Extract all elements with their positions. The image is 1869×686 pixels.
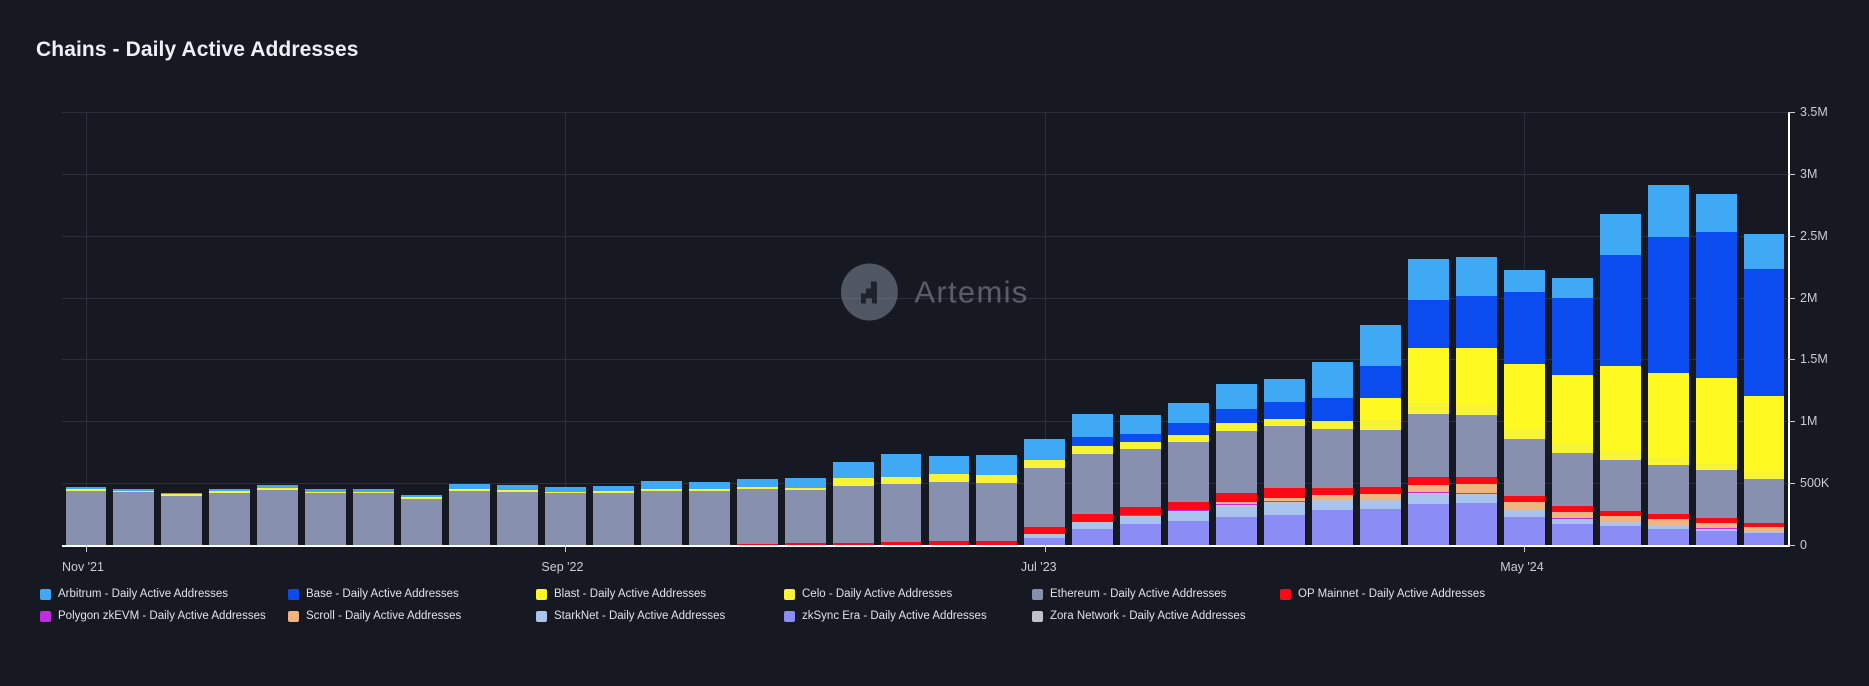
legend-item-starknet[interactable]: StarkNet - Daily Active Addresses	[536, 610, 784, 622]
y-axis-tick	[1788, 298, 1795, 299]
legend-item-label: Polygon zkEVM - Daily Active Addresses	[58, 610, 266, 622]
bar-segment-blast	[1744, 396, 1785, 473]
legend-swatch-icon	[784, 589, 795, 600]
bar-segment-ethereum	[1600, 460, 1641, 511]
bar-segment-celo	[929, 474, 970, 482]
bar-segment-base	[1552, 298, 1593, 375]
bar-segment-zksync_era	[1408, 504, 1449, 545]
bar-segment-zksync_era	[1360, 509, 1401, 545]
y-axis-tick	[1788, 174, 1795, 175]
y-axis-tick	[1788, 112, 1795, 113]
bar-column[interactable]	[1264, 378, 1305, 545]
y-axis-label: 3.5M	[1800, 105, 1828, 119]
bar-segment-op_mainnet	[1120, 507, 1161, 515]
bar-segment-blast	[1408, 348, 1449, 402]
y-axis-label: 500K	[1800, 476, 1829, 490]
bar-segment-scroll	[1408, 485, 1449, 492]
bar-segment-ethereum	[161, 496, 202, 545]
legend-swatch-icon	[784, 611, 795, 622]
bar-column[interactable]	[1216, 384, 1257, 545]
bar-segment-op_mainnet	[1216, 493, 1257, 502]
bar-segment-ethereum	[1168, 442, 1209, 501]
legend-item-base[interactable]: Base - Daily Active Addresses	[288, 588, 536, 600]
bar-segment-starknet	[1264, 504, 1305, 515]
bar-segment-arbitrum	[1024, 439, 1065, 460]
y-axis-label: 0	[1800, 538, 1807, 552]
bar-column[interactable]	[1072, 414, 1113, 545]
bar-segment-zksync_era	[1072, 529, 1113, 545]
bar-segment-celo	[1120, 442, 1161, 449]
legend-item-label: Base - Daily Active Addresses	[306, 588, 459, 600]
bar-segment-ethereum	[976, 483, 1017, 541]
bar-segment-ethereum	[1360, 430, 1401, 487]
bar-segment-ethereum	[785, 490, 826, 543]
bar-column[interactable]	[929, 456, 970, 545]
legend-item-arbitrum[interactable]: Arbitrum - Daily Active Addresses	[40, 588, 288, 600]
bar-segment-zksync_era	[1504, 517, 1545, 545]
bar-segment-scroll	[1552, 512, 1593, 519]
x-axis-line	[62, 545, 1788, 547]
bar-segment-base	[1264, 402, 1305, 419]
x-axis-label: Sep '22	[541, 560, 583, 574]
bar-segment-arbitrum	[881, 454, 922, 476]
bar-segment-ethereum	[1552, 453, 1593, 506]
bar-segment-base	[1744, 269, 1785, 395]
bar-segment-celo	[976, 475, 1017, 483]
bar-column[interactable]	[737, 479, 778, 545]
bar-column[interactable]	[1120, 415, 1161, 545]
chart-legend: Arbitrum - Daily Active AddressesBase - …	[40, 588, 1540, 622]
bar-segment-ethereum	[833, 486, 874, 543]
bar-segment-celo	[1600, 452, 1641, 460]
bar-segment-zksync_era	[1600, 526, 1641, 545]
bar-column[interactable]	[593, 486, 634, 545]
legend-item-label: OP Mainnet - Daily Active Addresses	[1298, 588, 1485, 600]
bar-segment-ethereum	[641, 491, 682, 545]
legend-item-label: zkSync Era - Daily Active Addresses	[802, 610, 987, 622]
bar-segment-arbitrum	[1408, 259, 1449, 300]
legend-swatch-icon	[1280, 589, 1291, 600]
legend-item-ethereum[interactable]: Ethereum - Daily Active Addresses	[1032, 588, 1280, 600]
bar-segment-celo	[1168, 435, 1209, 442]
legend-swatch-icon	[1032, 589, 1043, 600]
bar-segment-ethereum	[449, 491, 490, 545]
bar-column[interactable]	[785, 477, 826, 545]
bar-segment-arbitrum	[1648, 185, 1689, 237]
bar-segment-ethereum	[593, 493, 634, 545]
bar-segment-celo	[1216, 423, 1257, 431]
bar-column[interactable]	[1456, 257, 1497, 545]
bar-segment-op_mainnet	[1072, 514, 1113, 521]
bar-segment-starknet	[1168, 512, 1209, 521]
legend-item-label: Blast - Daily Active Addresses	[554, 588, 706, 600]
bar-segment-ethereum	[66, 491, 107, 545]
bar-segment-op_mainnet	[1456, 477, 1497, 484]
bar-segment-blast	[1600, 366, 1641, 451]
bar-segment-ethereum	[1504, 439, 1545, 496]
bar-segment-zksync_era	[1552, 524, 1593, 545]
bar-segment-base	[1600, 255, 1641, 366]
y-axis-label: 3M	[1800, 167, 1817, 181]
bar-column[interactable]	[401, 495, 442, 545]
bar-column[interactable]	[1648, 185, 1689, 545]
legend-swatch-icon	[40, 589, 51, 600]
bar-segment-ethereum	[881, 484, 922, 542]
bar-column[interactable]	[209, 489, 250, 545]
bar-segment-blast	[1456, 348, 1497, 405]
bar-segment-scroll	[1456, 484, 1497, 493]
bar-segment-zksync_era	[1264, 515, 1305, 545]
bar-segment-base	[1648, 237, 1689, 373]
bar-segment-op_mainnet	[1168, 502, 1209, 510]
bar-segment-blast	[1360, 398, 1401, 420]
bar-segment-celo	[1648, 457, 1689, 465]
bar-segment-ethereum	[1744, 479, 1785, 524]
bar-segment-base	[1408, 300, 1449, 348]
bar-segment-ethereum	[1696, 470, 1737, 518]
bar-segment-arbitrum	[1600, 214, 1641, 255]
bar-segment-arbitrum	[1312, 362, 1353, 399]
legend-swatch-icon	[288, 611, 299, 622]
bar-segment-ethereum	[497, 492, 538, 545]
bar-segment-ethereum	[401, 499, 442, 545]
bar-segment-celo	[1072, 446, 1113, 453]
bar-segment-starknet	[1120, 517, 1161, 524]
bar-segment-zksync_era	[1168, 521, 1209, 545]
y-axis-tick	[1788, 483, 1795, 484]
bar-column[interactable]	[497, 485, 538, 545]
bar-segment-base	[1360, 366, 1401, 398]
bar-segment-celo	[1504, 429, 1545, 439]
bar-segment-base	[1216, 409, 1257, 424]
bar-segment-arbitrum	[1696, 194, 1737, 231]
bar-segment-ethereum	[1072, 454, 1113, 515]
bar-segment-arbitrum	[1120, 415, 1161, 433]
legend-swatch-icon	[1032, 611, 1043, 622]
legend-item-label: Ethereum - Daily Active Addresses	[1050, 588, 1226, 600]
legend-swatch-icon	[288, 589, 299, 600]
bar-segment-celo	[1024, 460, 1065, 467]
bar-column[interactable]	[1312, 362, 1353, 545]
bar-segment-ethereum	[737, 489, 778, 544]
bar-column[interactable]	[1360, 325, 1401, 545]
bar-segment-arbitrum	[689, 482, 730, 489]
bar-segment-arbitrum	[833, 462, 874, 478]
x-axis-label: Nov '21	[62, 560, 104, 574]
bar-column[interactable]	[1504, 270, 1545, 546]
x-axis-tick	[86, 545, 87, 552]
bar-segment-arbitrum	[1360, 325, 1401, 366]
bar-segment-ethereum	[1024, 468, 1065, 528]
bar-segment-ethereum	[689, 491, 730, 544]
y-axis-line	[1788, 112, 1790, 547]
y-axis-tick	[1788, 359, 1795, 360]
x-axis-tick	[1045, 545, 1046, 552]
bar-segment-arbitrum	[1744, 234, 1785, 270]
bar-segment-zksync_era	[1312, 510, 1353, 545]
bar-column[interactable]	[641, 481, 682, 545]
bar-segment-base	[1072, 437, 1113, 447]
legend-item-polygon_zkevm[interactable]: Polygon zkEVM - Daily Active Addresses	[40, 610, 288, 622]
bar-segment-ethereum	[257, 490, 298, 545]
legend-swatch-icon	[536, 589, 547, 600]
bar-segment-arbitrum	[737, 479, 778, 487]
bar-segment-ethereum	[1216, 431, 1257, 493]
bar-segment-zksync_era	[1744, 533, 1785, 545]
bar-segment-starknet	[1360, 501, 1401, 509]
bar-segment-celo	[1360, 420, 1401, 430]
legend-item-blast[interactable]: Blast - Daily Active Addresses	[536, 588, 784, 600]
legend-item-zksync_era[interactable]: zkSync Era - Daily Active Addresses	[784, 610, 1032, 622]
bar-segment-arbitrum	[1072, 414, 1113, 436]
bar-segment-arbitrum	[929, 456, 970, 475]
bar-segment-scroll	[1504, 502, 1545, 510]
bar-column[interactable]	[881, 454, 922, 545]
bar-segment-celo	[1264, 419, 1305, 426]
bar-segment-celo	[1408, 403, 1449, 414]
bar-segment-arbitrum	[1216, 384, 1257, 408]
page-title: Chains - Daily Active Addresses	[36, 38, 359, 62]
bar-segment-ethereum	[929, 482, 970, 541]
legend-swatch-icon	[536, 611, 547, 622]
bar-segment-arbitrum	[1168, 403, 1209, 423]
bar-segment-base	[1312, 398, 1353, 420]
x-axis-label: May '24	[1500, 560, 1543, 574]
bar-segment-ethereum	[1264, 426, 1305, 488]
bar-segment-arbitrum	[1264, 379, 1305, 402]
x-axis-tick	[1524, 545, 1525, 552]
bar-column[interactable]	[257, 485, 298, 545]
legend-item-label: Scroll - Daily Active Addresses	[306, 610, 461, 622]
bar-segment-ethereum	[209, 493, 250, 545]
bar-segment-arbitrum	[785, 478, 826, 489]
bar-segment-celo	[833, 478, 874, 485]
legend-item-zora_network[interactable]: Zora Network - Daily Active Addresses	[1032, 610, 1280, 622]
y-axis-label: 1.5M	[1800, 352, 1828, 366]
bar-column[interactable]	[1024, 439, 1065, 545]
x-axis-label: Jul '23	[1021, 560, 1057, 574]
bar-segment-blast	[1504, 364, 1545, 430]
y-axis-tick	[1788, 421, 1795, 422]
bar-column[interactable]	[1744, 234, 1785, 546]
bar-segment-arbitrum	[1552, 278, 1593, 298]
x-axis-tick	[565, 545, 566, 552]
legend-swatch-icon	[40, 611, 51, 622]
bar-segment-base	[1168, 423, 1209, 435]
bar-segment-base	[1456, 296, 1497, 348]
bar-column[interactable]	[545, 487, 586, 545]
bar-column[interactable]	[1168, 403, 1209, 545]
bar-segment-ethereum	[1312, 429, 1353, 487]
bar-column[interactable]	[833, 462, 874, 545]
bar-segment-zksync_era	[1648, 529, 1689, 545]
bar-segment-op_mainnet	[1312, 488, 1353, 495]
bar-column[interactable]	[449, 484, 490, 545]
bar-segment-starknet	[1408, 495, 1449, 505]
y-axis: 0500K1M1.5M2M2.5M3M3.5M	[1788, 0, 1869, 686]
bar-segment-ethereum	[1456, 415, 1497, 477]
bar-column[interactable]	[1696, 194, 1737, 545]
legend-item-celo[interactable]: Celo - Daily Active Addresses	[784, 588, 1032, 600]
bar-segment-base	[1120, 434, 1161, 443]
y-axis-tick	[1788, 236, 1795, 237]
bar-segment-base	[1696, 232, 1737, 378]
y-axis-label: 1M	[1800, 414, 1817, 428]
bar-series-container	[62, 112, 1788, 545]
bar-column[interactable]	[976, 455, 1017, 545]
bar-column[interactable]	[66, 487, 107, 545]
y-axis-tick	[1788, 545, 1795, 546]
bar-segment-op_mainnet	[1264, 488, 1305, 498]
bar-column[interactable]	[305, 489, 346, 545]
bar-segment-starknet	[1216, 507, 1257, 517]
legend-item-op_mainnet[interactable]: OP Mainnet - Daily Active Addresses	[1280, 588, 1528, 600]
bar-segment-ethereum	[1408, 414, 1449, 477]
bar-segment-ethereum	[353, 493, 394, 545]
bar-segment-arbitrum	[1456, 257, 1497, 297]
y-axis-label: 2M	[1800, 291, 1817, 305]
bar-segment-starknet	[1456, 496, 1497, 503]
bar-segment-ethereum	[1120, 449, 1161, 507]
bar-segment-blast	[1552, 375, 1593, 444]
bar-column[interactable]	[689, 482, 730, 545]
legend-item-scroll[interactable]: Scroll - Daily Active Addresses	[288, 610, 536, 622]
legend-item-label: Celo - Daily Active Addresses	[802, 588, 952, 600]
bar-segment-starknet	[1312, 502, 1353, 511]
bar-segment-ethereum	[113, 492, 154, 545]
legend-item-label: StarkNet - Daily Active Addresses	[554, 610, 725, 622]
bar-segment-ethereum	[545, 493, 586, 545]
bar-segment-ethereum	[1648, 465, 1689, 514]
bar-segment-blast	[1648, 373, 1689, 457]
bar-column[interactable]	[113, 489, 154, 545]
bar-segment-arbitrum	[1504, 270, 1545, 292]
bar-segment-celo	[1456, 405, 1497, 415]
bar-segment-zksync_era	[1456, 503, 1497, 545]
bar-column[interactable]	[353, 489, 394, 545]
bar-segment-zksync_era	[1696, 531, 1737, 545]
bar-column[interactable]	[1552, 278, 1593, 545]
y-axis-label: 2.5M	[1800, 229, 1828, 243]
bar-column[interactable]	[1408, 259, 1449, 545]
bar-segment-ethereum	[305, 493, 346, 545]
legend-item-label: Arbitrum - Daily Active Addresses	[58, 588, 228, 600]
bar-segment-blast	[1696, 378, 1737, 463]
chart-page: Chains - Daily Active Addresses Artemis …	[0, 0, 1869, 686]
bar-segment-base	[1504, 292, 1545, 364]
bar-segment-op_mainnet	[1408, 477, 1449, 485]
bar-segment-celo	[1552, 444, 1593, 453]
bar-segment-celo	[1696, 463, 1737, 470]
legend-item-label: Zora Network - Daily Active Addresses	[1050, 610, 1246, 622]
bar-segment-zksync_era	[1216, 517, 1257, 545]
bar-column[interactable]	[1600, 214, 1641, 545]
bar-segment-celo	[1312, 421, 1353, 430]
bar-segment-arbitrum	[976, 455, 1017, 475]
bar-segment-arbitrum	[641, 481, 682, 489]
bar-segment-zksync_era	[1120, 524, 1161, 545]
bar-column[interactable]	[161, 493, 202, 545]
bar-segment-zksync_era	[1024, 538, 1065, 545]
bar-segment-celo	[881, 477, 922, 485]
